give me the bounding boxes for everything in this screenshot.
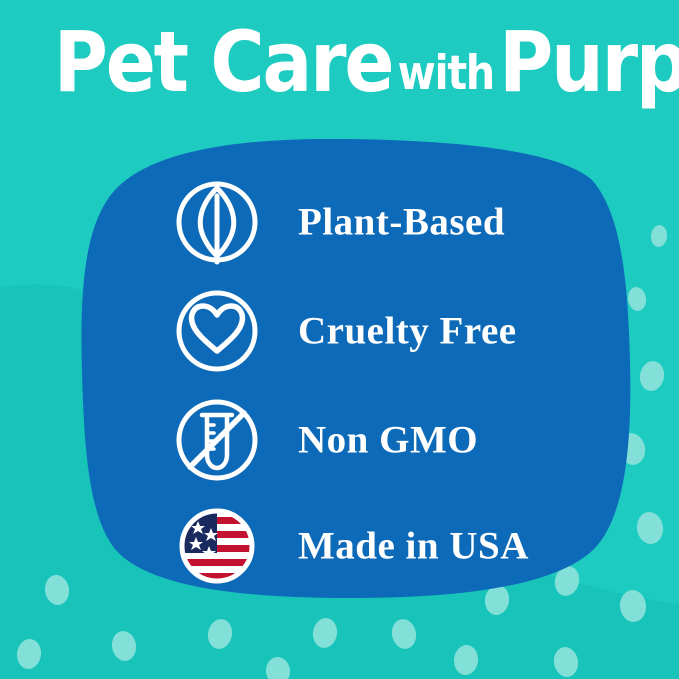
heart-icon-hit-area bbox=[174, 288, 260, 374]
no-gmo-icon-hit-area bbox=[174, 397, 260, 483]
usa-flag-icon-hit-area bbox=[174, 503, 260, 589]
benefit-label-made-in-usa: Made in USA bbox=[298, 524, 529, 569]
benefit-label-plant-based: Plant-Based bbox=[298, 200, 505, 245]
pet-care-with-purpose-poster: Pet CarewithPurpose® bbox=[0, 0, 679, 679]
leaf-icon-hit-area bbox=[174, 179, 260, 265]
benefit-label-cruelty-free: Cruelty Free bbox=[298, 309, 517, 354]
benefit-label-non-gmo: Non GMO bbox=[298, 418, 478, 463]
